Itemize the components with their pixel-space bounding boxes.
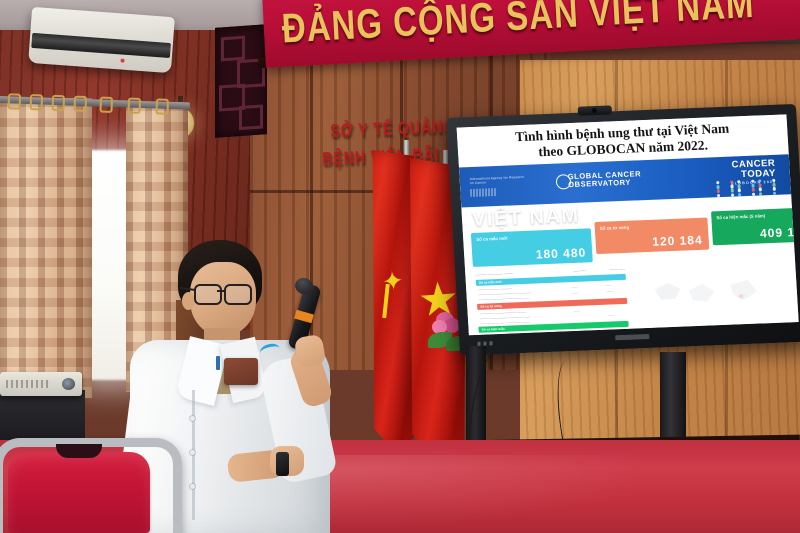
section-bar-new-label: Số ca mắc mới — [479, 279, 502, 284]
conference-room-photo: ĐẢNG CỘNG SẢN VIỆT NAM SỞ Y TẾ QUẢNG NIN… — [0, 0, 800, 533]
decoration-dot — [731, 193, 735, 197]
decoration-dot — [773, 191, 777, 195]
glasses-right-lens — [224, 284, 252, 305]
decoration-dot — [731, 189, 735, 193]
decoration-dot — [737, 180, 741, 184]
stat-deaths-value: 120 184 — [652, 233, 703, 249]
decoration-dot — [752, 188, 756, 192]
air-conditioner-icon — [28, 7, 175, 73]
dot-grid-decoration — [716, 179, 781, 198]
gco-label: GLOBAL CANCER OBSERVATORY — [567, 170, 641, 189]
decoration-dot — [716, 181, 720, 185]
stat-new-value: 180 480 — [535, 245, 586, 261]
decoration-dot — [751, 180, 755, 184]
ac-vent — [31, 33, 171, 58]
coat-button — [190, 450, 195, 455]
decoration-dot — [758, 179, 762, 183]
decoration-dot — [717, 194, 721, 198]
coat-placket — [192, 390, 195, 520]
presentation-display[interactable]: Tình hình bệnh ung thư tại Việt Nam theo… — [446, 104, 800, 364]
glasses-left-lens — [194, 284, 222, 305]
tv-screen[interactable]: Tình hình bệnh ung thư tại Việt Nam theo… — [457, 114, 799, 335]
decoration-dot — [738, 193, 742, 197]
pocket-pen — [216, 356, 220, 370]
decoration-dot — [759, 188, 763, 192]
decoration-dot — [737, 184, 741, 188]
stat-new-cases: Số ca mắc mới 180 480 — [471, 228, 593, 267]
stat-prevalence-value: 409 144 — [760, 224, 799, 240]
decoration-dot — [716, 185, 720, 189]
id-badge — [224, 358, 258, 385]
decoration-dot — [759, 192, 763, 196]
decoration-dot — [772, 179, 776, 183]
projector-lens — [62, 378, 75, 390]
world-map-ghost — [643, 265, 776, 326]
stat-deaths-label: Số ca tử vong — [600, 225, 630, 231]
decoration-dot — [730, 180, 734, 184]
webcam-lens — [592, 108, 597, 113]
decoration-dot — [752, 192, 756, 196]
section-bar-deaths-label: Số ca tử vong — [480, 303, 501, 308]
decoration-dot — [758, 184, 762, 188]
coat-button — [190, 416, 195, 421]
decoration-dot — [717, 189, 721, 193]
section-bar-prevalence-label: Số ca hiện mắc — [481, 326, 504, 331]
glasses-bridge — [217, 290, 225, 292]
decoration-dot — [751, 184, 755, 188]
slide: Tình hình bệnh ung thư tại Việt Nam theo… — [457, 114, 799, 335]
decoration-dot — [772, 183, 776, 187]
stat-new-label: Số ca mắc mới — [476, 236, 507, 242]
stat-deaths: Số ca tử vong 120 184 — [594, 218, 709, 254]
chair-back-notch — [56, 444, 102, 458]
coat-button — [190, 484, 195, 489]
stat-prevalence-label: Số ca hiện mắc (5 năm) — [716, 213, 765, 220]
communist-party-flag-icon: ✦ — [370, 150, 414, 450]
decoration-dot — [773, 187, 777, 191]
ac-indicator-light — [120, 58, 124, 62]
stat-prevalence: Số ca hiện mắc (5 năm) 409 144 — [711, 207, 799, 245]
curtain-left — [0, 98, 92, 398]
who-logo-icon — [470, 188, 496, 197]
presentation-clicker-icon[interactable] — [276, 452, 289, 476]
projector-vent — [6, 380, 50, 388]
decoration-dot — [730, 185, 734, 189]
slide-lower-tables: ———— ————— ——— —— —— ——— —— Số ca mắc mớ… — [473, 260, 792, 333]
banner-text: ĐẢNG CỘNG SẢN VIỆT NAM — [281, 0, 800, 52]
decorative-maze-panel — [215, 24, 267, 138]
decoration-dot — [738, 189, 742, 193]
